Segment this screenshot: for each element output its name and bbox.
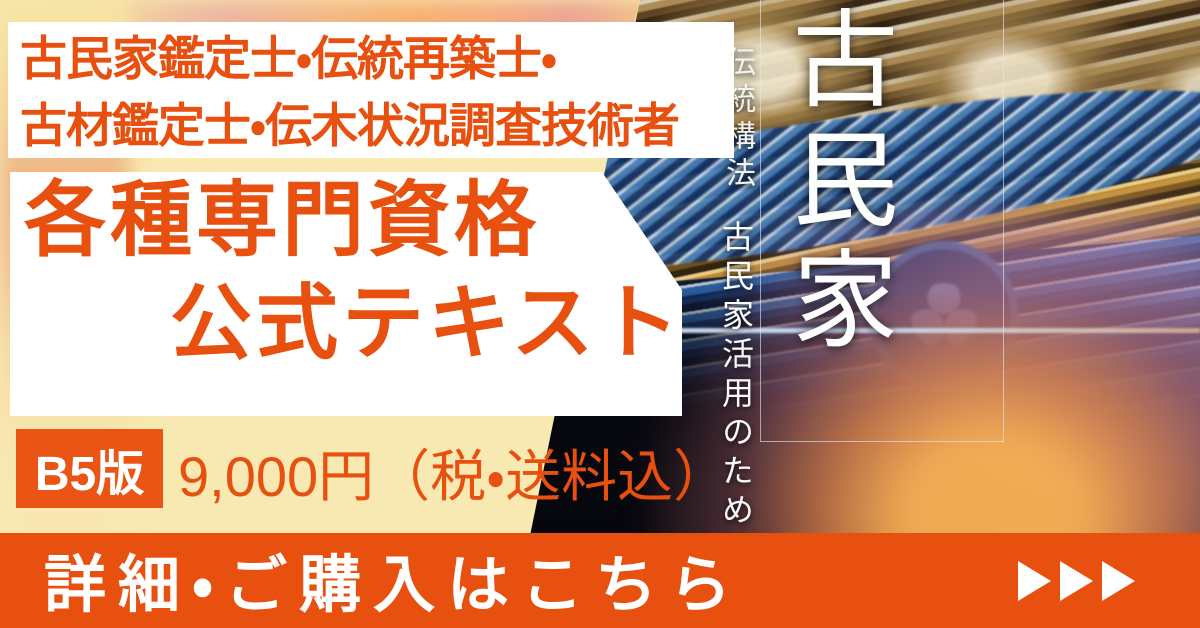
headline-line-2: 公式テキスト [170, 283, 684, 365]
price-label: 9,000円（税・送料込） [178, 432, 729, 513]
book-title-vertical: 古民家 [778, 4, 890, 364]
triangle-right-icon [1060, 561, 1093, 601]
certifications-line-2: 古材鑑定士・伝木状況調査技術者 [20, 93, 720, 160]
headline-line-1: 各種専門資格 [24, 180, 540, 262]
triangle-right-icon [1018, 561, 1051, 601]
size-badge: B5版 [16, 429, 163, 508]
certifications-text: 古民家鑑定士・伝統再築士・ 古材鑑定士・伝木状況調査技術者 [20, 26, 720, 159]
triangle-right-icon [1102, 561, 1135, 601]
cta-label: 詳細・ご購入はこちら [44, 534, 743, 624]
cta-bar[interactable]: 詳細・ご購入はこちら [0, 533, 1200, 628]
promo-banner[interactable]: 古民家 伝統構法 古民家活用のための調査と再生の 古民家鑑定士・伝統再築士・ 古… [0, 0, 1200, 628]
certifications-line-1: 古民家鑑定士・伝統再築士・ [20, 26, 720, 93]
cta-arrows [1018, 561, 1135, 601]
